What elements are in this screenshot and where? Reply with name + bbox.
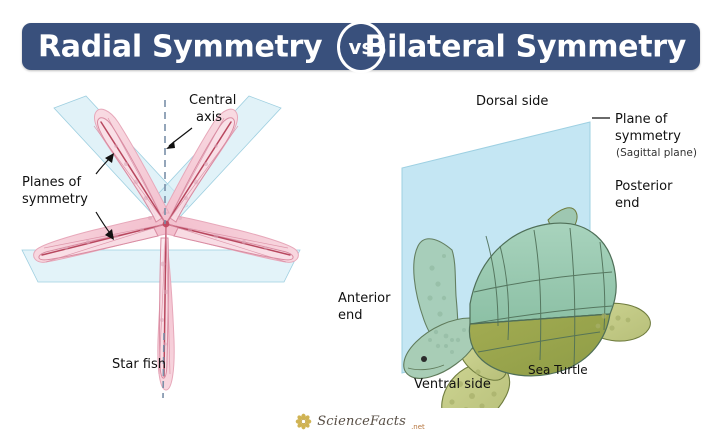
ventral-side-label: Ventral side [414, 377, 491, 392]
turtle-eye [421, 356, 427, 362]
central-axis-label-line2: axis [196, 110, 222, 125]
title-right-text: Bilateral Symmetry [365, 29, 686, 64]
star-fish-caption: Star fish [112, 357, 166, 372]
sea-turtle-caption: Sea Turtle [528, 363, 588, 377]
anterior-end-label-line1: Anterior [338, 291, 391, 306]
anterior-end-label-line2: end [338, 308, 363, 323]
central-axis-label-line1: Central [189, 93, 236, 108]
watermark-tld: .net [411, 423, 425, 431]
bilateral-symmetry-group: Dorsal side Plane of symmetry (Sagittal … [338, 94, 697, 408]
posterior-end-label-line1: Posterior [615, 179, 673, 194]
diagram-stage: Central axis Planes of symmetry Star fis… [0, 78, 720, 408]
starfish-figure [34, 109, 299, 390]
planes-of-symmetry-label-line2: symmetry [22, 192, 88, 207]
plane-of-symmetry-label-line2: symmetry [615, 129, 681, 144]
sagittal-plane-sublabel: (Sagittal plane) [616, 147, 697, 159]
posterior-end-label-line2: end [615, 196, 640, 211]
watermark-brand: ScienceFacts [317, 414, 406, 429]
watermark: ScienceFacts .net [0, 409, 720, 433]
title-banner: Radial Symmetry vs Bilateral Symmetry [22, 23, 700, 70]
central-axis-arrowhead [166, 141, 175, 149]
dorsal-side-label: Dorsal side [476, 94, 548, 109]
planes-of-symmetry-label-line1: Planes of [22, 175, 82, 190]
title-left-text: Radial Symmetry [38, 29, 322, 64]
radial-symmetry-group: Central axis Planes of symmetry Star fis… [22, 93, 300, 398]
plane-of-symmetry-label-line1: Plane of [615, 112, 668, 127]
atom-flower-icon [295, 413, 312, 430]
starfish-center [163, 221, 170, 228]
